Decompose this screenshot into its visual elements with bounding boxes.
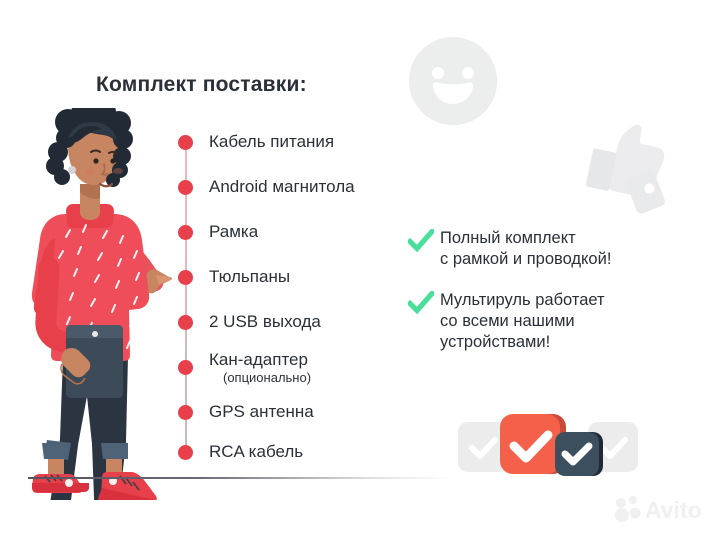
benefit-text: Мультируль работает со всеми нашими устр…: [440, 290, 605, 353]
benefit-item: Полный комплект с рамкой и проводкой!: [408, 228, 611, 270]
bullet-dot: [178, 135, 193, 150]
list-item-label: Кан-адаптер (опционально): [209, 350, 311, 386]
bullet-dot: [178, 270, 193, 285]
benefit-line-2: со всеми нашими: [440, 312, 575, 330]
list-item-label: GPS антенна: [209, 402, 314, 422]
list-item: 2 USB выхода: [178, 312, 321, 332]
benefit-line-2: с рамкой и проводкой!: [440, 250, 611, 268]
list-item-label: Тюльпаны: [209, 267, 290, 287]
bullet-dot: [178, 405, 193, 420]
watermark-label: Avito: [645, 497, 702, 523]
list-item: Android магнитола: [178, 177, 355, 197]
list-item: RCA кабель: [178, 442, 303, 462]
benefit-line-1: Полный комплект: [440, 229, 576, 247]
list-item: Кан-адаптер (опционально): [178, 350, 311, 386]
bullet-dot: [178, 445, 193, 460]
bullet-dot: [178, 360, 193, 375]
list-item-label: Кабель питания: [209, 132, 334, 152]
avito-watermark: Avito: [612, 492, 712, 526]
list-item-sublabel: (опционально): [223, 370, 311, 386]
bullet-dot: [178, 180, 193, 195]
promo-card: Комплект поставки: Кабель питания Androi…: [0, 0, 720, 540]
list-item-label: Android магнитола: [209, 177, 355, 197]
list-item-label: RCA кабель: [209, 442, 303, 462]
check-mark-icon: [408, 229, 434, 253]
list-item-label: Рамка: [209, 222, 258, 242]
benefit-line-1: Мультируль работает: [440, 291, 605, 309]
check-mark-icon: [408, 291, 434, 315]
ground-line: [28, 477, 452, 479]
list-item-label: 2 USB выхода: [209, 312, 321, 332]
benefit-line-3: устройствами!: [440, 333, 550, 351]
page-title: Комплект поставки:: [96, 73, 307, 97]
bullet-dot: [178, 225, 193, 240]
thumbs-up-icon: [578, 112, 682, 216]
benefit-text: Полный комплект с рамкой и проводкой!: [440, 228, 611, 270]
list-item: GPS антенна: [178, 402, 314, 422]
list-item: Рамка: [178, 222, 258, 242]
list-item: Тюльпаны: [178, 267, 290, 287]
woman-pointing-illustration: [8, 108, 178, 500]
benefit-item: Мультируль работает со всеми нашими устр…: [408, 290, 605, 353]
list-item: Кабель питания: [178, 132, 334, 152]
bullet-dot: [178, 315, 193, 330]
smiley-face-icon: [405, 33, 501, 129]
checkbox-group-icon: [458, 404, 638, 490]
list-item-label-main: Кан-адаптер: [209, 350, 308, 369]
